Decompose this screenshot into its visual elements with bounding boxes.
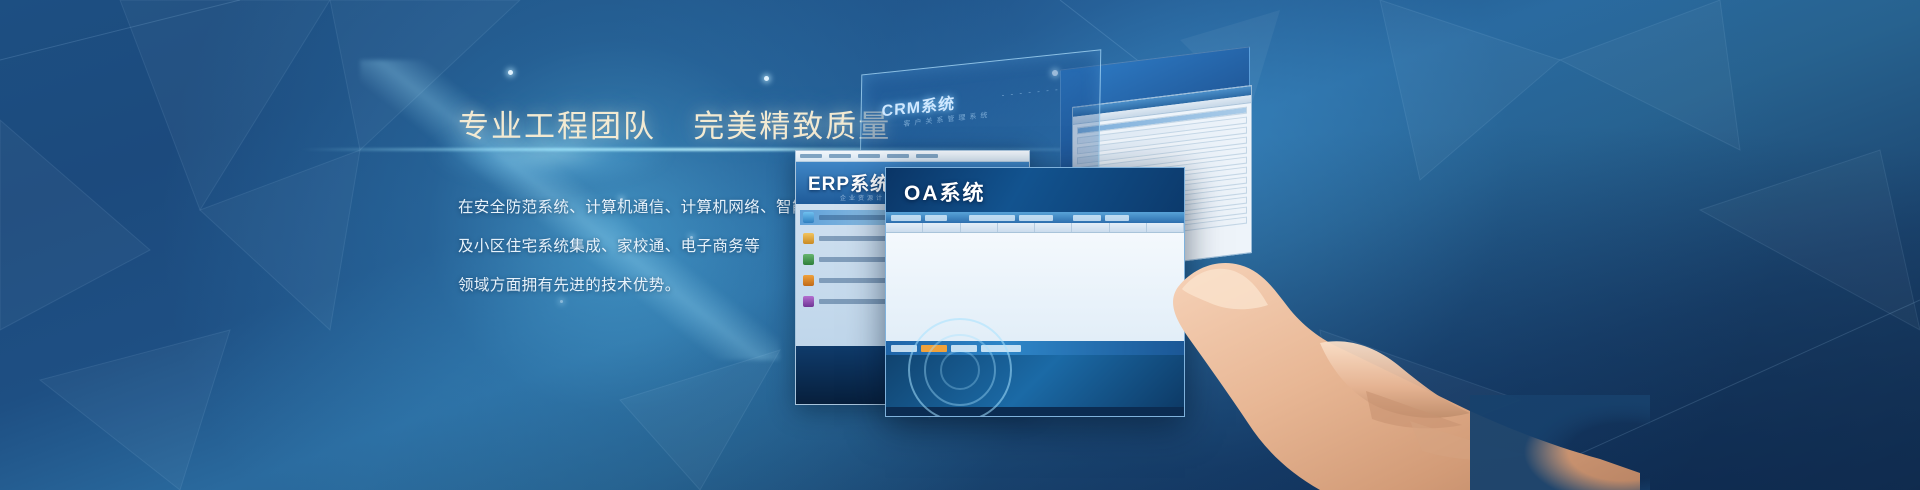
chart-icon bbox=[803, 275, 814, 286]
oa-title: OA系统 bbox=[904, 177, 986, 207]
table-column-header bbox=[1072, 223, 1109, 232]
erp-sidebar-item bbox=[800, 210, 888, 225]
headline-part-1: 专业工程团队 bbox=[458, 109, 656, 144]
erp-menu-item bbox=[800, 154, 822, 158]
erp-sidebar-item bbox=[800, 252, 888, 267]
erp-sidebar-item bbox=[800, 273, 888, 288]
erp-menu-item bbox=[916, 154, 938, 158]
erp-sidebar-label bbox=[819, 236, 888, 241]
erp-menu-item bbox=[829, 154, 851, 158]
oa-window: OA系统 bbox=[885, 167, 1185, 417]
erp-sidebar-item bbox=[800, 231, 888, 246]
oa-toolbar-button bbox=[1019, 215, 1053, 221]
touch-ripple-outer bbox=[908, 318, 1012, 417]
erp-sidebar-label bbox=[819, 299, 888, 304]
oa-toolbar-button bbox=[925, 215, 947, 221]
erp-menubar bbox=[796, 151, 1029, 162]
oa-header: OA系统 bbox=[886, 168, 1184, 212]
erp-menu-item bbox=[887, 154, 909, 158]
erp-title: ERP系统 bbox=[808, 169, 890, 196]
oa-toolbar bbox=[886, 212, 1184, 223]
document-icon bbox=[803, 254, 814, 265]
sparkle-dot bbox=[508, 70, 513, 75]
crm-decor-dashes: - - - - - - - bbox=[1002, 85, 1060, 100]
oa-table-header bbox=[886, 223, 1184, 233]
table-column-header bbox=[923, 223, 960, 232]
oa-table-body bbox=[886, 233, 1184, 341]
table-column-header bbox=[1110, 223, 1147, 232]
table-column-header bbox=[961, 223, 998, 232]
erp-sidebar-label bbox=[819, 215, 888, 220]
erp-menu-item bbox=[858, 154, 880, 158]
oa-toolbar-button bbox=[1073, 215, 1101, 221]
pointing-hand-image bbox=[1170, 215, 1650, 490]
gear-icon bbox=[803, 233, 814, 244]
erp-sidebar-label bbox=[819, 278, 888, 283]
oa-toolbar-button bbox=[891, 215, 921, 221]
folder-icon bbox=[803, 212, 814, 223]
table-column-header bbox=[886, 223, 923, 232]
erp-sidebar-label bbox=[819, 257, 888, 262]
hero-banner: 专业工程团队 完美精致质量 在安全防范系统、计算机通信、计算机网络、智能大厦 及… bbox=[0, 0, 1920, 490]
table-column-header bbox=[1035, 223, 1072, 232]
oa-toolbar-button bbox=[969, 215, 1015, 221]
oa-toolbar-button bbox=[1105, 215, 1129, 221]
erp-sidebar-item bbox=[800, 294, 888, 309]
table-column-header bbox=[998, 223, 1035, 232]
grid-icon bbox=[803, 296, 814, 307]
